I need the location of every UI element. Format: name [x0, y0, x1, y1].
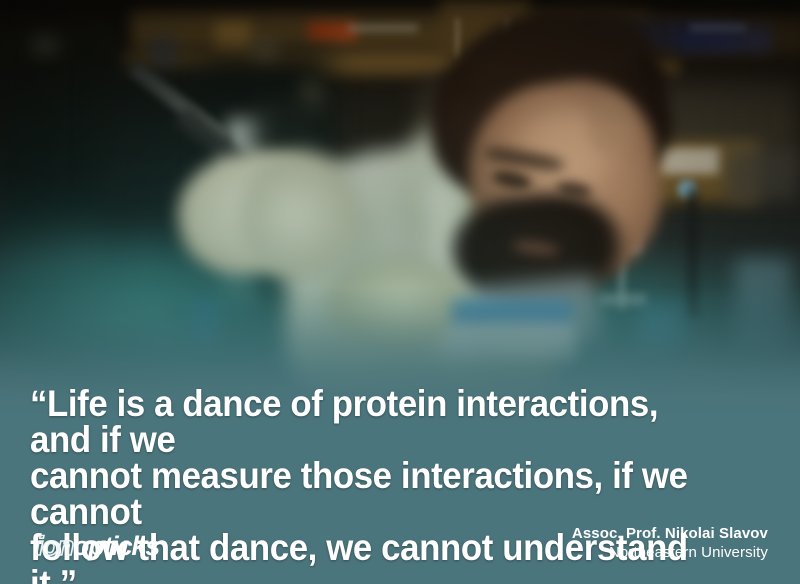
attribution-name: Assoc. Prof. Nikolai Slavov [572, 524, 768, 543]
card-content: “Life is a dance of protein interactions… [0, 0, 800, 584]
card-footer: ionopticks Assoc. Prof. Nikolai Slavov N… [0, 516, 800, 562]
logo-opticks-solid: opticks [73, 531, 159, 561]
quote-card: “Life is a dance of protein interactions… [0, 0, 800, 584]
attribution-organization: Northeastern University [572, 543, 768, 562]
ionopticks-logo: ionopticks [36, 532, 159, 560]
logo-ion-outline: ion [36, 531, 73, 561]
attribution-block: Assoc. Prof. Nikolai Slavov Northeastern… [572, 524, 768, 562]
